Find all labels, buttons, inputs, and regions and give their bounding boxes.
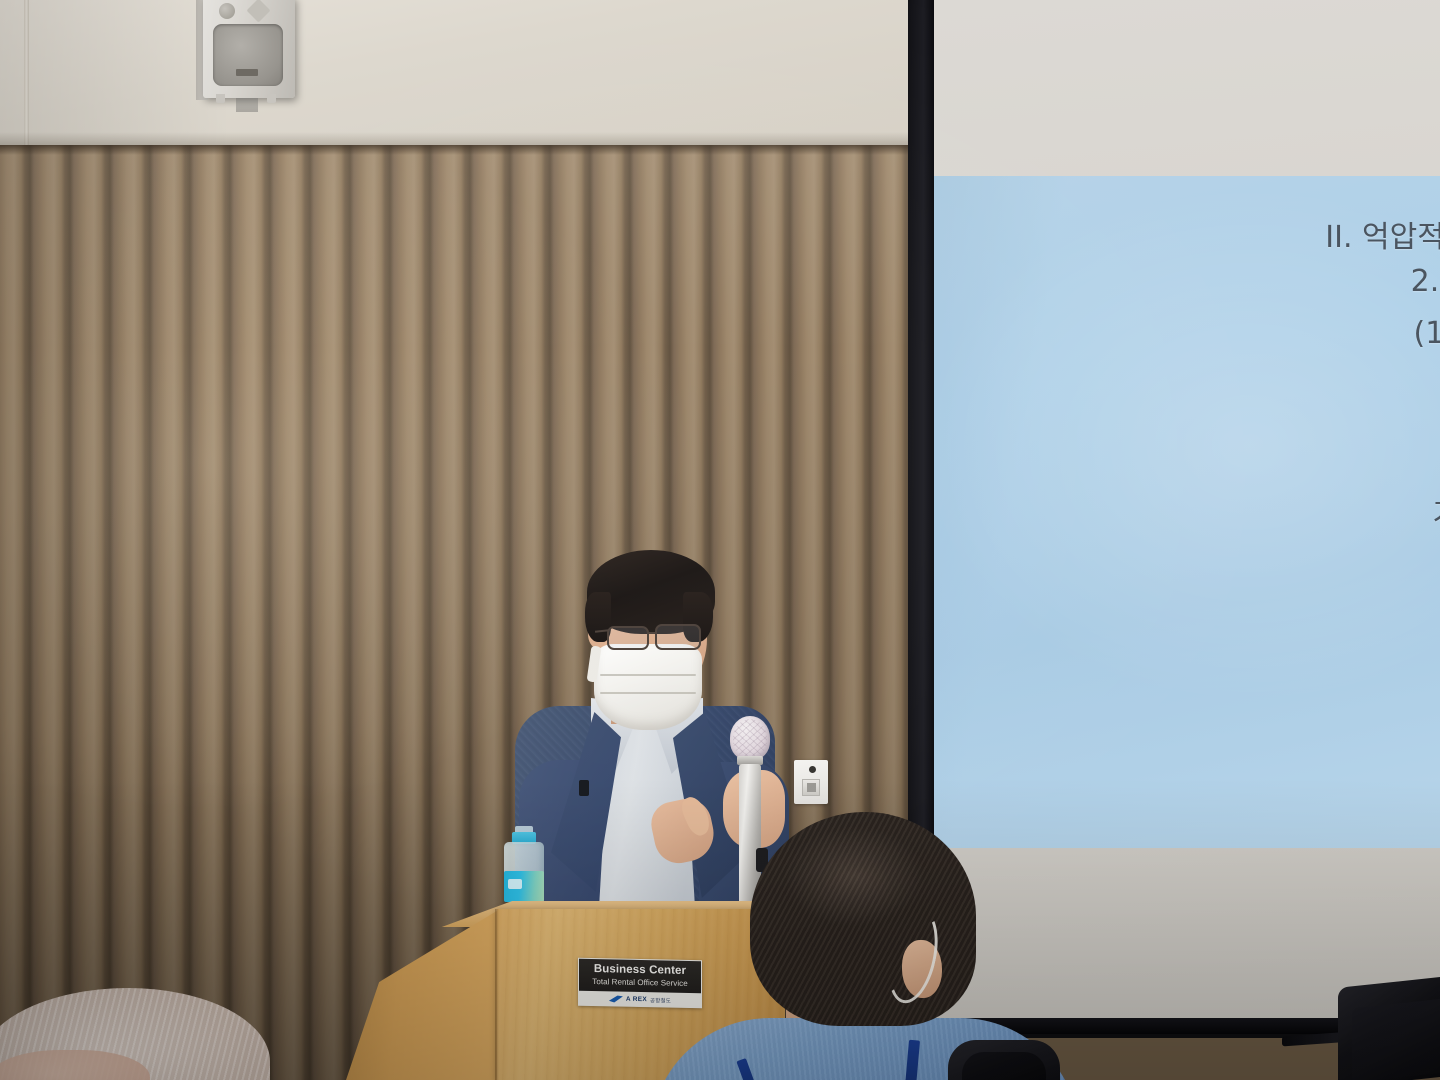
mask-fold-1: [600, 674, 696, 676]
business-center-sign: Business Center Total Rental Office Serv…: [578, 958, 702, 1009]
chair-back-center: [948, 1040, 1060, 1080]
slide-line-9: 원에 위 규정이 프라이버시권을: [932, 584, 1440, 628]
chair-back-right-inner: [1352, 998, 1440, 1080]
slide-line-8: HIV/AIDS를 다루는 단체 Naz Foun: [932, 541, 1440, 585]
upper-wall: [0, 0, 935, 152]
arex-logo: A REX 공항철도: [586, 993, 694, 1006]
glasses-lens-right: [655, 624, 701, 650]
speaker-grille: [213, 24, 283, 86]
face-mask-icon: [594, 644, 702, 730]
wall-seam: [24, 0, 29, 152]
speaker-foot-right: [267, 94, 276, 103]
sign-subtitle: Total Rental Office Service: [592, 978, 687, 988]
projected-slide: II. 억압적 법 2. 인도 (1) 1861년부터 건전한 성도 제377조…: [932, 176, 1440, 848]
water-bottle-icon: [502, 824, 546, 902]
slide-line-2: 2. 인도: [932, 260, 1440, 304]
slide-line-7: 기: [932, 493, 1440, 537]
speaker-emblem: [246, 0, 270, 23]
speaker-tweeter: [219, 3, 235, 19]
slide-line-10: 성관계를 처벌하는 것은: [932, 628, 1440, 672]
slide-line-4: 1861년부터 건전한 성도: [932, 361, 1440, 405]
sign-dark-plate: Business Center Total Rental Office Serv…: [579, 959, 701, 994]
slat-wall-top-edge: [0, 145, 935, 155]
mic-windscreen: [730, 716, 770, 760]
slide-line-1: II. 억압적 법: [932, 216, 1440, 260]
speaker-mount-stem: [236, 96, 258, 112]
slide-text-block: II. 억압적 법 2. 인도 (1) 1861년부터 건전한 성도 제377조…: [932, 176, 1440, 848]
glasses-bridge: [647, 632, 657, 634]
arex-swoosh-icon: [609, 995, 623, 1002]
slide-line-3: (1): [932, 312, 1440, 356]
mask-fold-2: [600, 692, 696, 694]
slide-line-6: 하는 성교를 한 때는 무기징역 또: [932, 449, 1440, 493]
speaker-brand-label: [236, 69, 258, 76]
audience-member-left: [0, 988, 280, 1080]
chair-back-center-inner: [962, 1052, 1046, 1080]
podium-corner-edge: [495, 909, 499, 1080]
podium-side-panel: [345, 909, 500, 1080]
pa-speaker-icon: [203, 0, 295, 98]
lecture-hall-photo: II. 억압적 법 2. 인도 (1) 1861년부터 건전한 성도 제377조…: [0, 0, 1440, 1080]
sign-title: Business Center: [594, 964, 686, 977]
bottle-label-mark: [508, 879, 522, 889]
chair-back-right: [1338, 976, 1440, 1080]
glasses-lens-left: [607, 626, 649, 650]
slide-line-5: 제377조 누구든지 자발적으로 남: [932, 405, 1440, 449]
arex-logo-text: A REX: [626, 996, 647, 1003]
audience-hair: [750, 812, 976, 1026]
speaker-foot-left: [216, 94, 225, 103]
lapel-mic-icon: [579, 780, 589, 796]
arex-logo-text-korean: 공항철도: [650, 996, 671, 1004]
